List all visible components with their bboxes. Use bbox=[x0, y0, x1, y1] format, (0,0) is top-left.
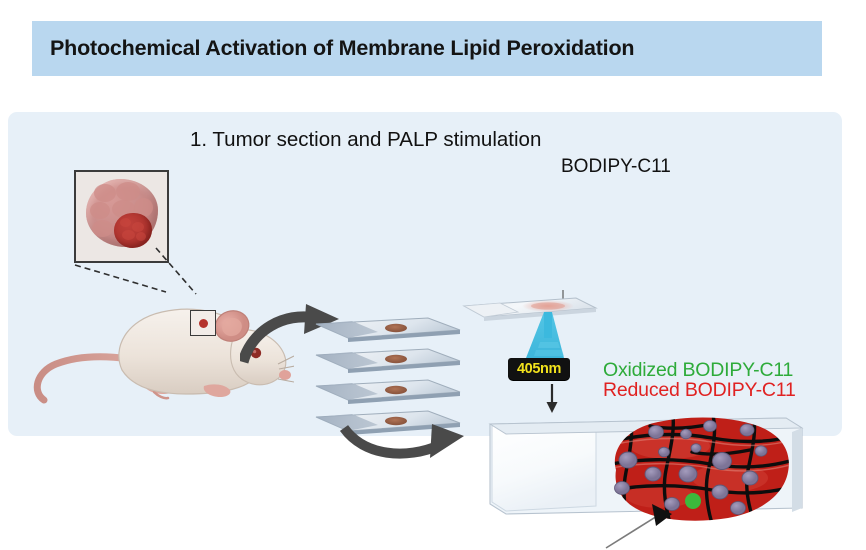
tumor-core-bump bbox=[136, 232, 146, 241]
laser-source-405nm: 405nm bbox=[508, 358, 570, 380]
legend: Oxidized BODIPY-C11 Reduced BODIPY-C11 bbox=[603, 360, 796, 400]
title-banner: Photochemical Activation of Membrane Lip… bbox=[32, 21, 822, 76]
laser-wavelength-label: 405nm bbox=[517, 362, 561, 377]
legend-item-oxidized: Oxidized BODIPY-C11 bbox=[603, 360, 796, 380]
tumor-lobe bbox=[94, 184, 116, 202]
tumor-marker-box bbox=[190, 310, 216, 336]
pointer-arrow-icon bbox=[604, 500, 700, 550]
laser-stimulation-group bbox=[460, 290, 600, 418]
curved-arrow-right-icon bbox=[340, 412, 470, 464]
tumor-core-bump bbox=[120, 218, 131, 227]
page-title: Photochemical Activation of Membrane Lip… bbox=[50, 36, 634, 61]
tumor-core-bump bbox=[122, 230, 135, 240]
legend-item-reduced: Reduced BODIPY-C11 bbox=[603, 380, 796, 400]
tumor-marker-dot bbox=[199, 319, 208, 328]
step-heading: 1. Tumor section and PALP stimulation bbox=[190, 128, 541, 152]
arrow-down-icon bbox=[545, 384, 559, 414]
tumor-lobe bbox=[90, 202, 110, 219]
figure-panel: 1. Tumor section and PALP stimulation bbox=[8, 112, 842, 436]
tumor-lobe bbox=[92, 220, 113, 237]
tumor-core-bump bbox=[132, 222, 144, 232]
tumor-lobe bbox=[116, 182, 140, 201]
probe-label: BODIPY-C11 bbox=[561, 156, 671, 178]
